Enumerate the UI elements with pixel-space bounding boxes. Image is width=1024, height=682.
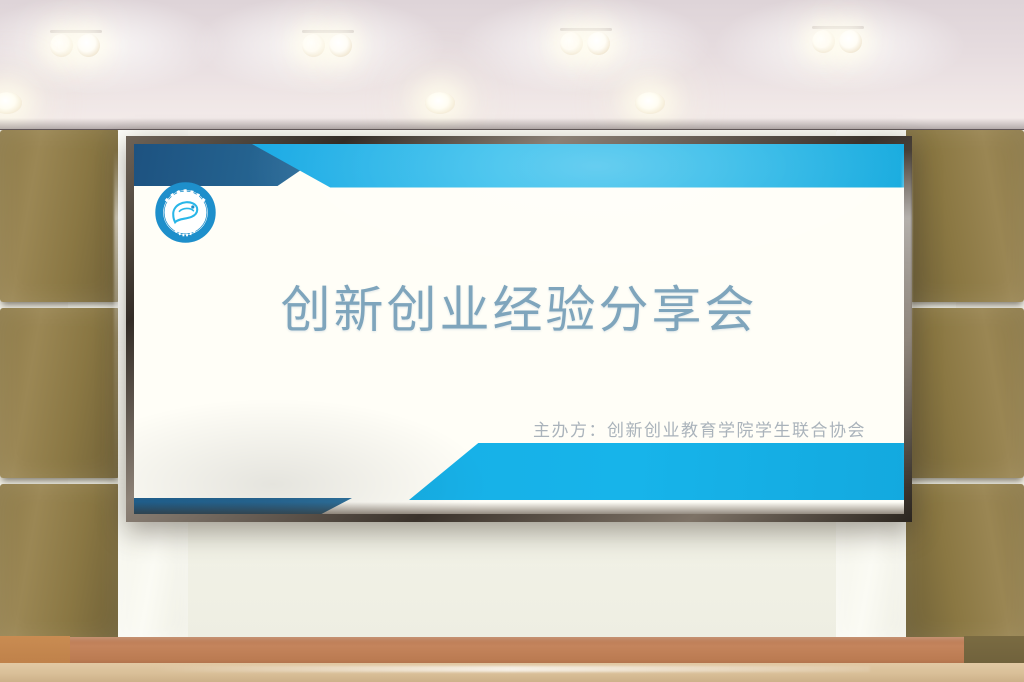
spotlight-rail [50,30,102,33]
led-display-screen[interactable]: 创新创业经验分享会 主办方：创新创业教育学院学生联合协会 [126,136,912,522]
spotlight-bulb [839,30,862,53]
downlight-1 [0,92,22,114]
university-emblem [155,182,216,243]
acoustic-panel [0,308,120,478]
acoustic-panel [904,308,1024,478]
spotlight-pair-4 [810,26,866,56]
acoustic-panel [0,130,120,302]
ceiling [0,0,1024,130]
spotlight-bulb [560,32,583,55]
downlight-3 [635,92,665,114]
spotlight-bulb [329,34,352,57]
spotlight-pair-1 [48,30,104,60]
acoustic-panel [904,484,1024,640]
downlight-2 [425,92,455,114]
conference-room-scene: 创新创业经验分享会 主办方：创新创业教育学院学生联合协会 [0,0,1024,682]
cyan-top-band [252,144,904,197]
spotlight-bulb [50,34,73,57]
slide-title: 创新创业经验分享会 [134,270,904,342]
presentation-slide: 创新创业经验分享会 主办方：创新创业教育学院学生联合协会 [134,144,904,514]
spotlight-rail [812,26,864,29]
spotlight-bulb [587,32,610,55]
spotlight-rail [302,30,354,33]
spotlight-bulb [812,30,835,53]
spotlight-bulb [77,34,100,57]
acoustic-panel-column-left [0,130,120,640]
spotlight-pair-2 [300,30,356,60]
floor-light-reflection [150,666,870,672]
spotlight-bulb [302,34,325,57]
cyan-bottom-band [409,443,904,500]
slide-subtitle: 主办方：创新创业教育学院学生联合协会 [533,416,866,441]
spotlight-rail [560,28,612,31]
acoustic-panel-column-right [904,130,1024,640]
acoustic-panel [0,484,120,640]
spotlight-pair-3 [558,28,614,58]
acoustic-panel [904,130,1024,302]
screen-surface[interactable]: 创新创业经验分享会 主办方：创新创业教育学院学生联合协会 [134,144,904,514]
navy-bottom-band [134,498,352,514]
